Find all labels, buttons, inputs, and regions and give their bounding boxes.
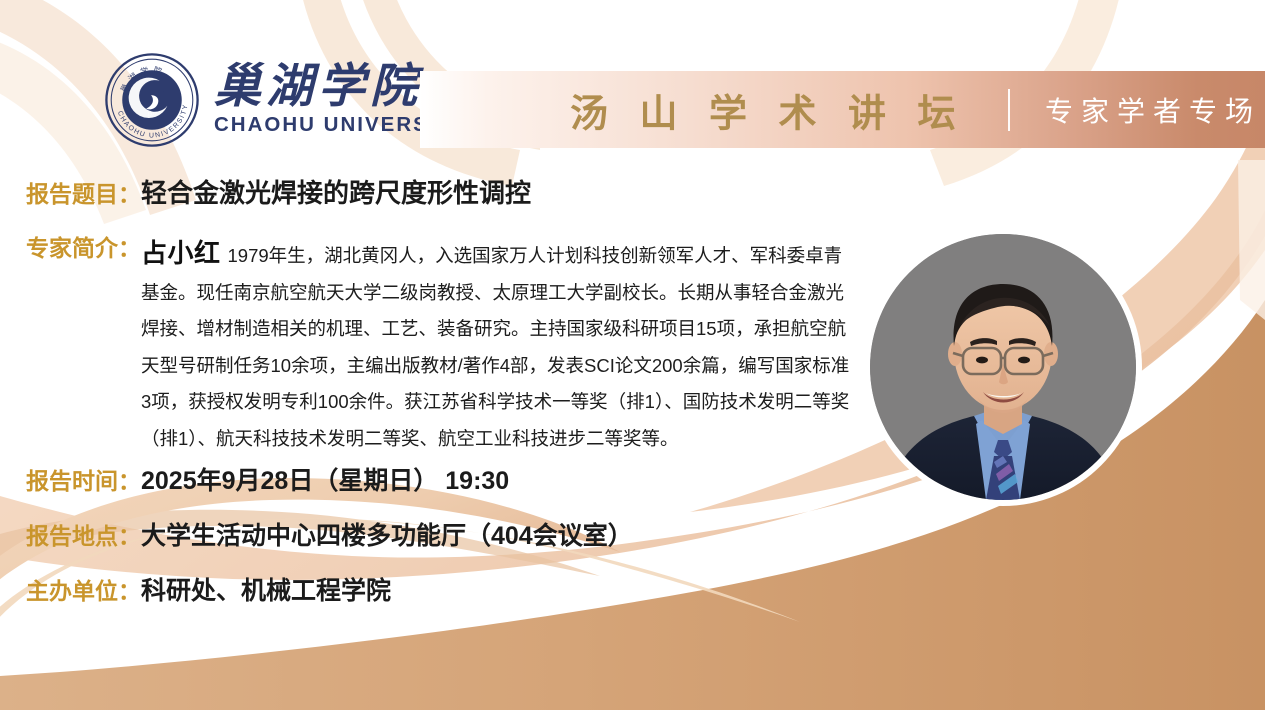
right-edge-band: [1238, 160, 1265, 320]
poster-root: 1977 巢湖学院 CHAOHU UNIVERSITY 巢湖学院 CHAOHU …: [0, 0, 1265, 710]
organizer-value: 科研处、机械工程学院: [141, 575, 391, 609]
speaker-bio-row: 专家简介： 占小红1979年生，湖北黄冈人，入选国家万人计划科技创新领军人才、军…: [26, 233, 853, 457]
report-place-value: 大学生活动中心四楼多功能厅（404会议室）: [141, 520, 633, 554]
speaker-bio-label: 专家简介：: [26, 233, 141, 264]
report-time-row: 报告时间： 2025年9月28日（星期日） 19:30: [26, 465, 509, 499]
report-time-label: 报告时间：: [26, 466, 141, 497]
speaker-bio-body: 占小红1979年生，湖北黄冈人，入选国家万人计划科技创新领军人才、军科委卓青基金…: [141, 233, 853, 457]
lecture-series-banner: 汤 山 学 术 讲 坛 专家学者专场: [420, 71, 1265, 148]
report-title-label: 报告题目：: [26, 179, 141, 210]
report-place-label: 报告地点：: [26, 521, 141, 552]
poster-header: 1977 巢湖学院 CHAOHU UNIVERSITY 巢湖学院 CHAOHU …: [0, 0, 1265, 160]
speaker-portrait-image: [870, 234, 1136, 500]
report-title-value: 轻合金激光焊接的跨尺度形性调控: [141, 176, 531, 211]
organizer-label: 主办单位：: [26, 576, 141, 607]
report-time-value: 2025年9月28日（星期日） 19:30: [141, 465, 509, 499]
speaker-name: 占小红: [141, 238, 221, 268]
report-title-row: 报告题目： 轻合金激光焊接的跨尺度形性调控: [26, 176, 531, 211]
organizer-row: 主办单位： 科研处、机械工程学院: [26, 575, 391, 609]
university-logo-block: 1977 巢湖学院 CHAOHU UNIVERSITY 巢湖学院 CHAOHU …: [104, 52, 467, 148]
university-seal-icon: 1977 巢湖学院 CHAOHU UNIVERSITY: [104, 52, 200, 148]
speaker-bio-text: 1979年生，湖北黄冈人，入选国家万人计划科技创新领军人才、军科委卓青基金。现任…: [141, 245, 849, 449]
svg-text:1977: 1977: [147, 112, 157, 117]
banner-title: 汤 山 学 术 讲 坛: [570, 82, 967, 137]
banner-subtitle: 专家学者专场: [1045, 90, 1261, 130]
banner-divider: [1008, 89, 1010, 131]
speaker-portrait: [870, 234, 1136, 500]
report-place-row: 报告地点： 大学生活动中心四楼多功能厅（404会议室）: [26, 520, 633, 554]
